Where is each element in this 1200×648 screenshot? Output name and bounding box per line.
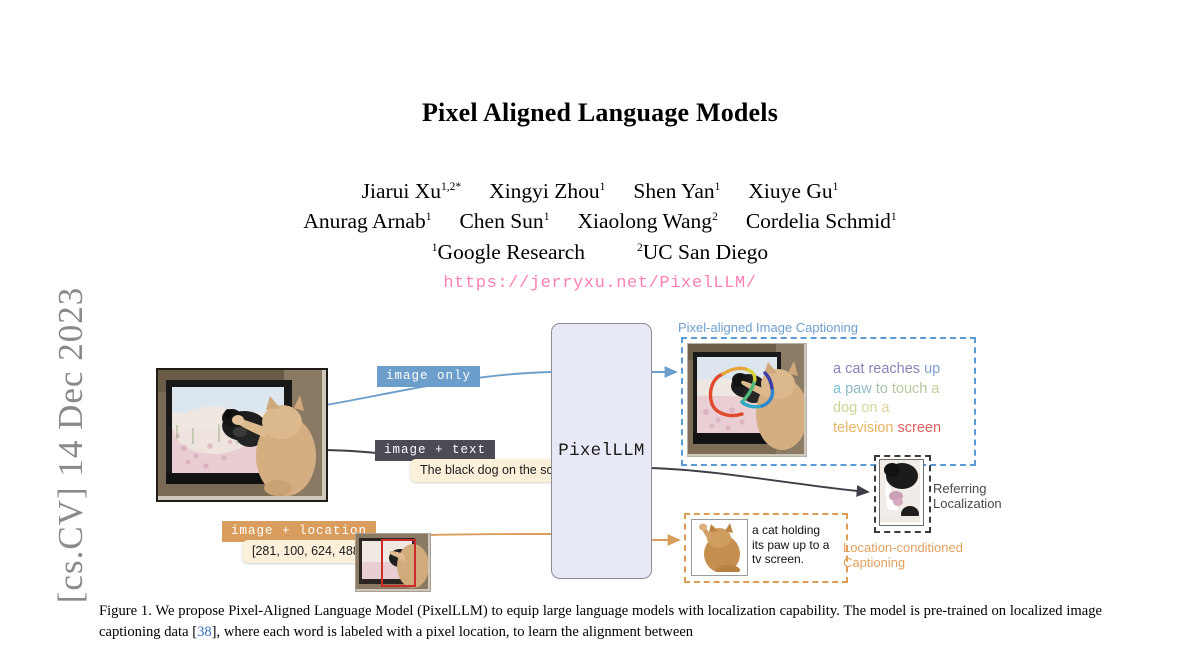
figure-caption-line1: We propose Pixel-Aligned Language Model … bbox=[152, 603, 906, 619]
caption-line: a cat reaches up bbox=[833, 361, 940, 377]
badge-image-text: image + text bbox=[375, 440, 495, 461]
location-prompt: [281, 100, 624, 488] bbox=[242, 540, 373, 563]
input-image-art bbox=[158, 370, 322, 496]
figure-caption-prefix: Figure 1. bbox=[99, 603, 152, 619]
caption-line: dog on a bbox=[833, 400, 889, 416]
badge-image-location: image + location bbox=[222, 521, 376, 542]
figure-1: image only image + text The black dog on… bbox=[0, 0, 1200, 648]
citation-link[interactable]: 38 bbox=[197, 624, 212, 640]
figure-caption: Figure 1. We propose Pixel-Aligned Langu… bbox=[99, 601, 1102, 642]
label-pixel-aligned-captioning: Pixel-aligned Image Captioning bbox=[678, 320, 858, 335]
label-location-conditioned-captioning: Location-conditioned Captioning bbox=[843, 540, 993, 570]
badge-image-only: image only bbox=[377, 366, 480, 387]
pixelllm-model-block: PixelLLM bbox=[551, 323, 652, 579]
referring-crop-art bbox=[880, 460, 920, 522]
figure-caption-line2b: ], where each word is labeled with a pix… bbox=[212, 624, 693, 640]
paper-page: [cs.CV] 14 Dec 2023 Pixel Aligned Langua… bbox=[0, 0, 1200, 648]
location-input-thumbnail bbox=[355, 533, 431, 592]
referring-localization-crop bbox=[879, 459, 924, 526]
caption-line: television screen bbox=[833, 420, 941, 436]
caption-line: a paw to touch a bbox=[833, 381, 939, 397]
output-image-with-scribbles bbox=[687, 343, 807, 457]
label-referring-localization: ReferringLocalization bbox=[933, 481, 1028, 511]
pixel-aligned-caption: a cat reaches up a paw to touch a dog on… bbox=[833, 360, 965, 438]
input-image-cat-tv bbox=[156, 368, 328, 502]
location-thumbnail-art bbox=[356, 534, 428, 589]
location-conditioned-crop bbox=[691, 519, 748, 576]
location-conditioned-caption: a cat holding its paw up to a tv screen. bbox=[752, 523, 834, 567]
location-crop-art bbox=[692, 520, 744, 572]
output-image-art bbox=[688, 344, 804, 454]
